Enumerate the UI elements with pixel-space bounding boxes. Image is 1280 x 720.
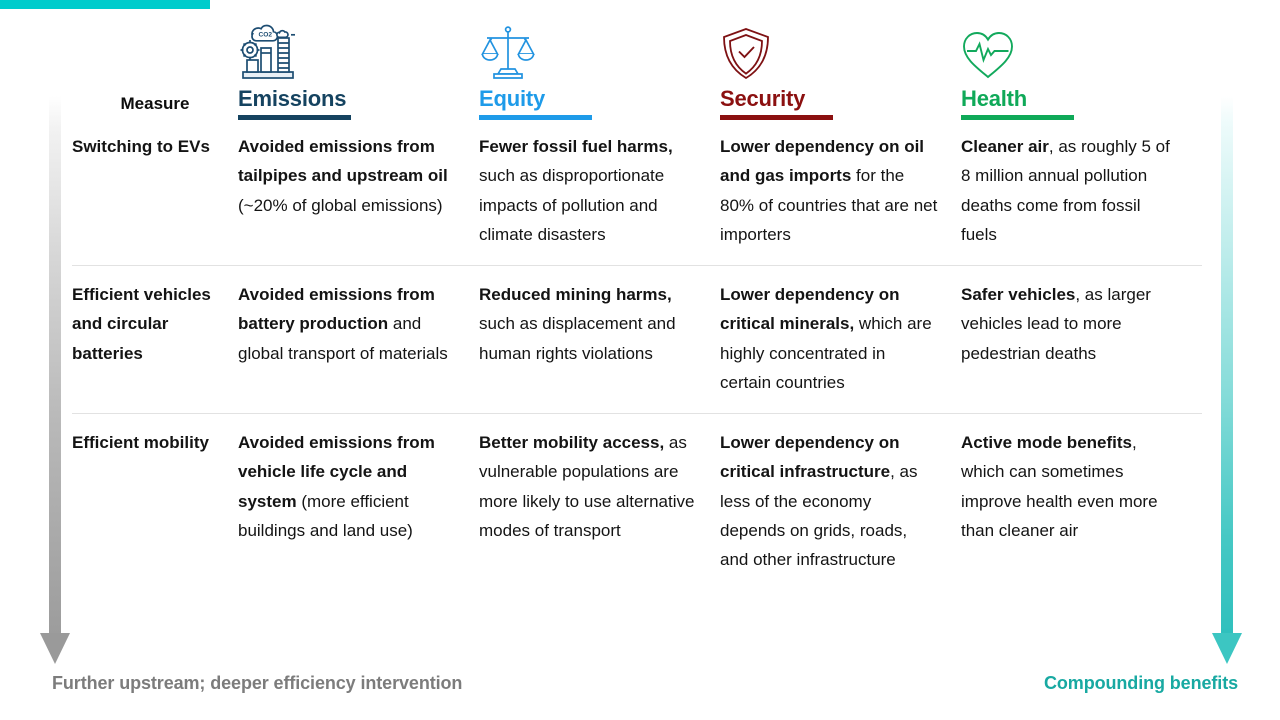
cell-lead-phrase: Cleaner air bbox=[961, 137, 1049, 156]
column-header-equity: Equity bbox=[479, 18, 720, 124]
column-rule-equity bbox=[479, 115, 592, 120]
matrix-header-row: Measure bbox=[72, 18, 1202, 124]
matrix-cell: Avoided emissions from tailpipes and ups… bbox=[238, 124, 479, 265]
arrow-head bbox=[40, 633, 70, 664]
matrix-body: Switching to EVsAvoided emissions from t… bbox=[72, 124, 1202, 590]
table-row: Efficient vehicles and circular batterie… bbox=[72, 266, 1202, 414]
shield-check-icon bbox=[720, 18, 961, 82]
column-rule-emissions bbox=[238, 115, 351, 120]
heart-pulse-icon bbox=[961, 18, 1202, 82]
footer-caption-right: Compounding benefits bbox=[1044, 673, 1238, 694]
matrix-cell: Lower dependency on oil and gas imports … bbox=[720, 124, 961, 265]
cell-lead-phrase: Active mode benefits bbox=[961, 433, 1132, 452]
cell-text: Reduced mining harms, such as displaceme… bbox=[479, 285, 676, 362]
arrow-head bbox=[1212, 633, 1242, 664]
matrix-cell: Lower dependency on critical infrastruct… bbox=[720, 414, 961, 591]
column-header-emissions: CO2 Emissions bbox=[238, 18, 479, 124]
slide-canvas: Measure bbox=[0, 0, 1280, 720]
column-title-emissions: Emissions bbox=[238, 82, 346, 111]
balance-scale-icon bbox=[479, 18, 720, 82]
column-title-equity: Equity bbox=[479, 82, 545, 111]
cell-text: Active mode benefits, which can sometime… bbox=[961, 433, 1158, 540]
cell-text: Lower dependency on critical infrastruct… bbox=[720, 433, 917, 569]
factory-co2-icon: CO2 bbox=[238, 18, 479, 82]
table-row: Efficient mobilityAvoided emissions from… bbox=[72, 414, 1202, 591]
cell-text: Better mobility access, as vulnerable po… bbox=[479, 433, 694, 540]
cell-detail-text: (~20% of global emissions) bbox=[238, 196, 443, 215]
svg-text:CO2: CO2 bbox=[259, 32, 273, 39]
matrix-cell: Active mode benefits, which can sometime… bbox=[961, 414, 1202, 591]
table-row: Switching to EVsAvoided emissions from t… bbox=[72, 124, 1202, 265]
row-label: Efficient vehicles and circular batterie… bbox=[72, 266, 238, 414]
arrow-shaft bbox=[1221, 96, 1233, 636]
footer-caption-left: Further upstream; deeper efficiency inte… bbox=[52, 673, 462, 694]
row-label: Efficient mobility bbox=[72, 414, 238, 591]
arrow-shaft bbox=[49, 96, 61, 636]
matrix-cell: Fewer fossil fuel harms, such as disprop… bbox=[479, 124, 720, 265]
matrix-cell: Lower dependency on critical minerals, w… bbox=[720, 266, 961, 414]
matrix-cell: Safer vehicles, as larger vehicles lead … bbox=[961, 266, 1202, 414]
cell-detail-text: such as disproportionate impacts of poll… bbox=[479, 166, 664, 243]
measure-column-header: Measure bbox=[72, 18, 238, 124]
matrix-cell: Reduced mining harms, such as displaceme… bbox=[479, 266, 720, 414]
top-accent-bar bbox=[0, 0, 210, 9]
matrix-cell: Avoided emissions from battery productio… bbox=[238, 266, 479, 414]
column-title-security: Security bbox=[720, 82, 805, 111]
cell-text: Cleaner air, as roughly 5 of 8 million a… bbox=[961, 137, 1170, 244]
cell-lead-phrase: Safer vehicles bbox=[961, 285, 1075, 304]
column-header-security: Security bbox=[720, 18, 961, 124]
cell-text: Avoided emissions from tailpipes and ups… bbox=[238, 137, 448, 214]
cell-text: Lower dependency on oil and gas imports … bbox=[720, 137, 937, 244]
row-label: Switching to EVs bbox=[72, 124, 238, 265]
cell-text: Safer vehicles, as larger vehicles lead … bbox=[961, 285, 1151, 362]
cell-detail-text: such as displacement and human rights vi… bbox=[479, 314, 676, 362]
cell-text: Avoided emissions from vehicle life cycl… bbox=[238, 433, 435, 540]
column-rule-security bbox=[720, 115, 833, 120]
cell-lead-phrase: Better mobility access, bbox=[479, 433, 664, 452]
cell-text: Avoided emissions from battery productio… bbox=[238, 285, 448, 362]
cell-text: Lower dependency on critical minerals, w… bbox=[720, 285, 932, 392]
column-header-health: Health bbox=[961, 18, 1202, 124]
down-arrow-gray bbox=[40, 96, 70, 666]
column-title-health: Health bbox=[961, 82, 1027, 111]
cell-lead-phrase: Avoided emissions from tailpipes and ups… bbox=[238, 137, 448, 185]
matrix-cell: Better mobility access, as vulnerable po… bbox=[479, 414, 720, 591]
matrix-cell: Avoided emissions from vehicle life cycl… bbox=[238, 414, 479, 591]
matrix-table: Measure bbox=[72, 18, 1202, 590]
cell-lead-phrase: Fewer fossil fuel harms, bbox=[479, 137, 673, 156]
matrix-cell: Cleaner air, as roughly 5 of 8 million a… bbox=[961, 124, 1202, 265]
cell-text: Fewer fossil fuel harms, such as disprop… bbox=[479, 137, 673, 244]
cell-lead-phrase: Lower dependency on critical infrastruct… bbox=[720, 433, 899, 481]
benefits-matrix: Measure bbox=[72, 18, 1202, 590]
column-rule-health bbox=[961, 115, 1074, 120]
cell-lead-phrase: Reduced mining harms, bbox=[479, 285, 672, 304]
down-arrow-teal bbox=[1212, 96, 1242, 666]
